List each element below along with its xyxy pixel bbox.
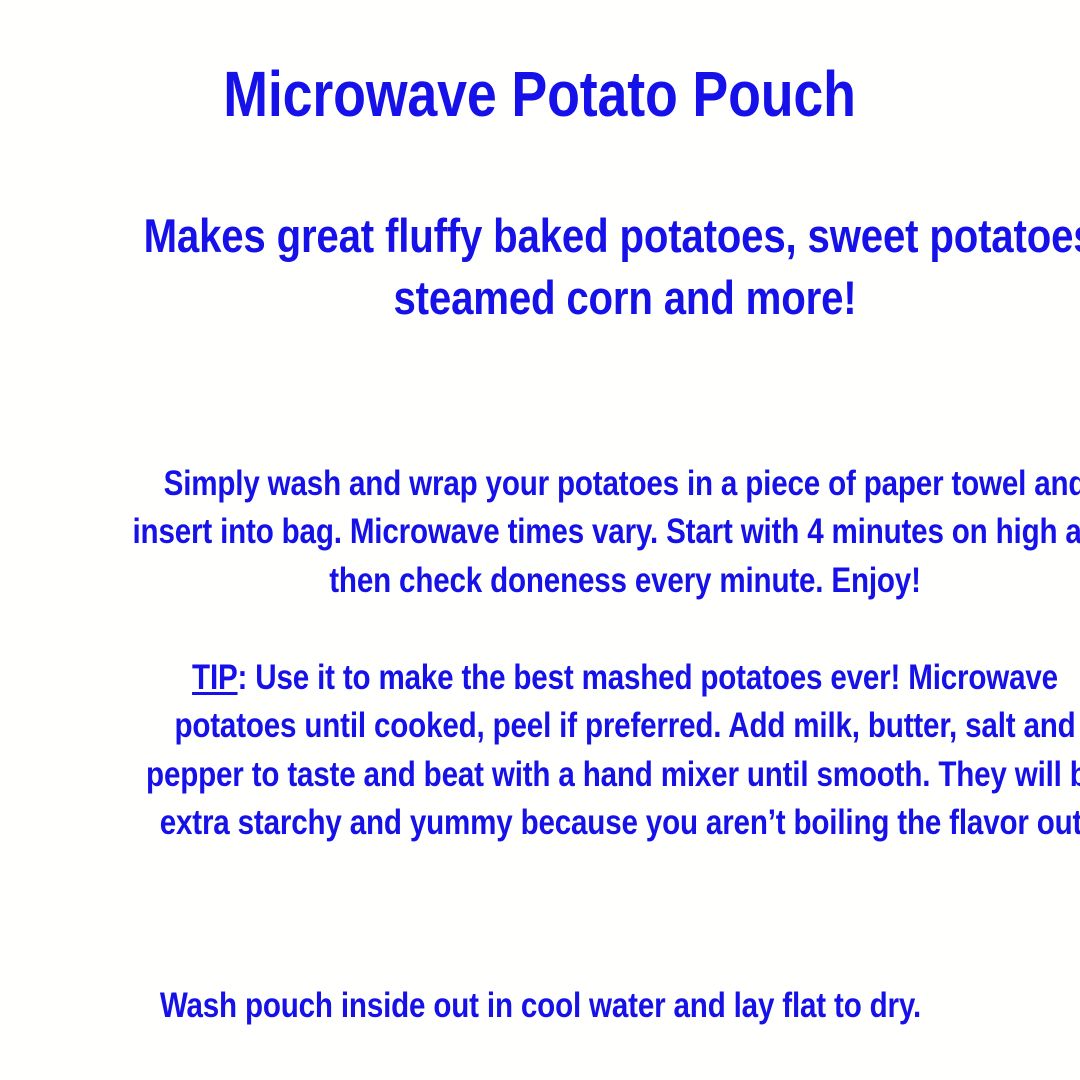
subtitle-text: Makes great fluffy baked potatoes, sweet… <box>121 205 1080 328</box>
care-instruction-text: Wash pouch inside out in cool water and … <box>159 982 920 1030</box>
care-block: Wash pouch inside out in cool water and … <box>40 982 1040 1030</box>
tip-paragraph: TIP: Use it to make the best mashed pota… <box>131 654 1080 848</box>
product-insert-card: Microwave Potato Pouch Makes great fluff… <box>0 0 1080 1080</box>
intro-paragraph: Simply wash and wrap your potatoes in a … <box>131 460 1080 605</box>
title-block: Microwave Potato Pouch <box>40 62 1040 127</box>
tip-separator: : <box>238 658 256 697</box>
intro-block: Simply wash and wrap your potatoes in a … <box>40 460 1040 605</box>
subtitle-block: Makes great fluffy baked potatoes, sweet… <box>35 205 1045 328</box>
tip-block: TIP: Use it to make the best mashed pota… <box>40 654 1040 848</box>
tip-body: Use it to make the best mashed potatoes … <box>146 658 1080 842</box>
tip-label: TIP <box>192 658 238 697</box>
page-title: Microwave Potato Pouch <box>224 62 857 127</box>
